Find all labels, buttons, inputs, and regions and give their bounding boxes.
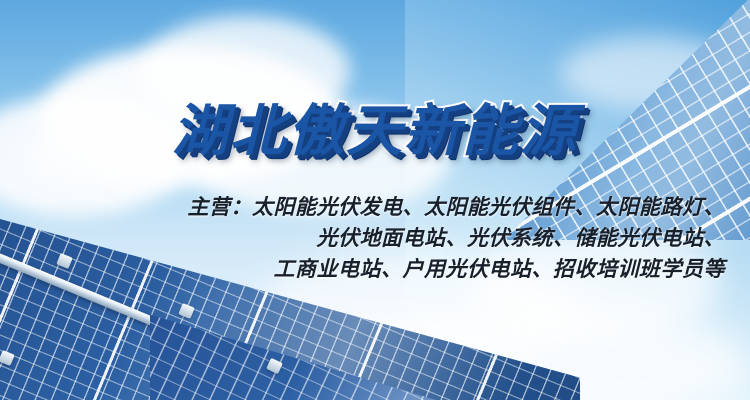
company-title: 湖北傲天新能源 — [0, 104, 750, 160]
business-scope-line-1: 主营：太阳能光伏发电、太阳能光伏组件、太阳能路灯、 — [20, 192, 725, 223]
business-scope-text: 主营：太阳能光伏发电、太阳能光伏组件、太阳能路灯、 光伏地面电站、光伏系统、储能… — [20, 192, 725, 285]
business-scope-line-3: 工商业电站、户用光伏电站、招收培训班学员等 — [20, 254, 725, 285]
promotional-banner: 湖北傲天新能源 主营：太阳能光伏发电、太阳能光伏组件、太阳能路灯、 光伏地面电站… — [0, 0, 750, 400]
banner-content: 湖北傲天新能源 主营：太阳能光伏发电、太阳能光伏组件、太阳能路灯、 光伏地面电站… — [0, 0, 750, 400]
business-scope-line-2: 光伏地面电站、光伏系统、储能光伏电站、 — [20, 223, 725, 254]
